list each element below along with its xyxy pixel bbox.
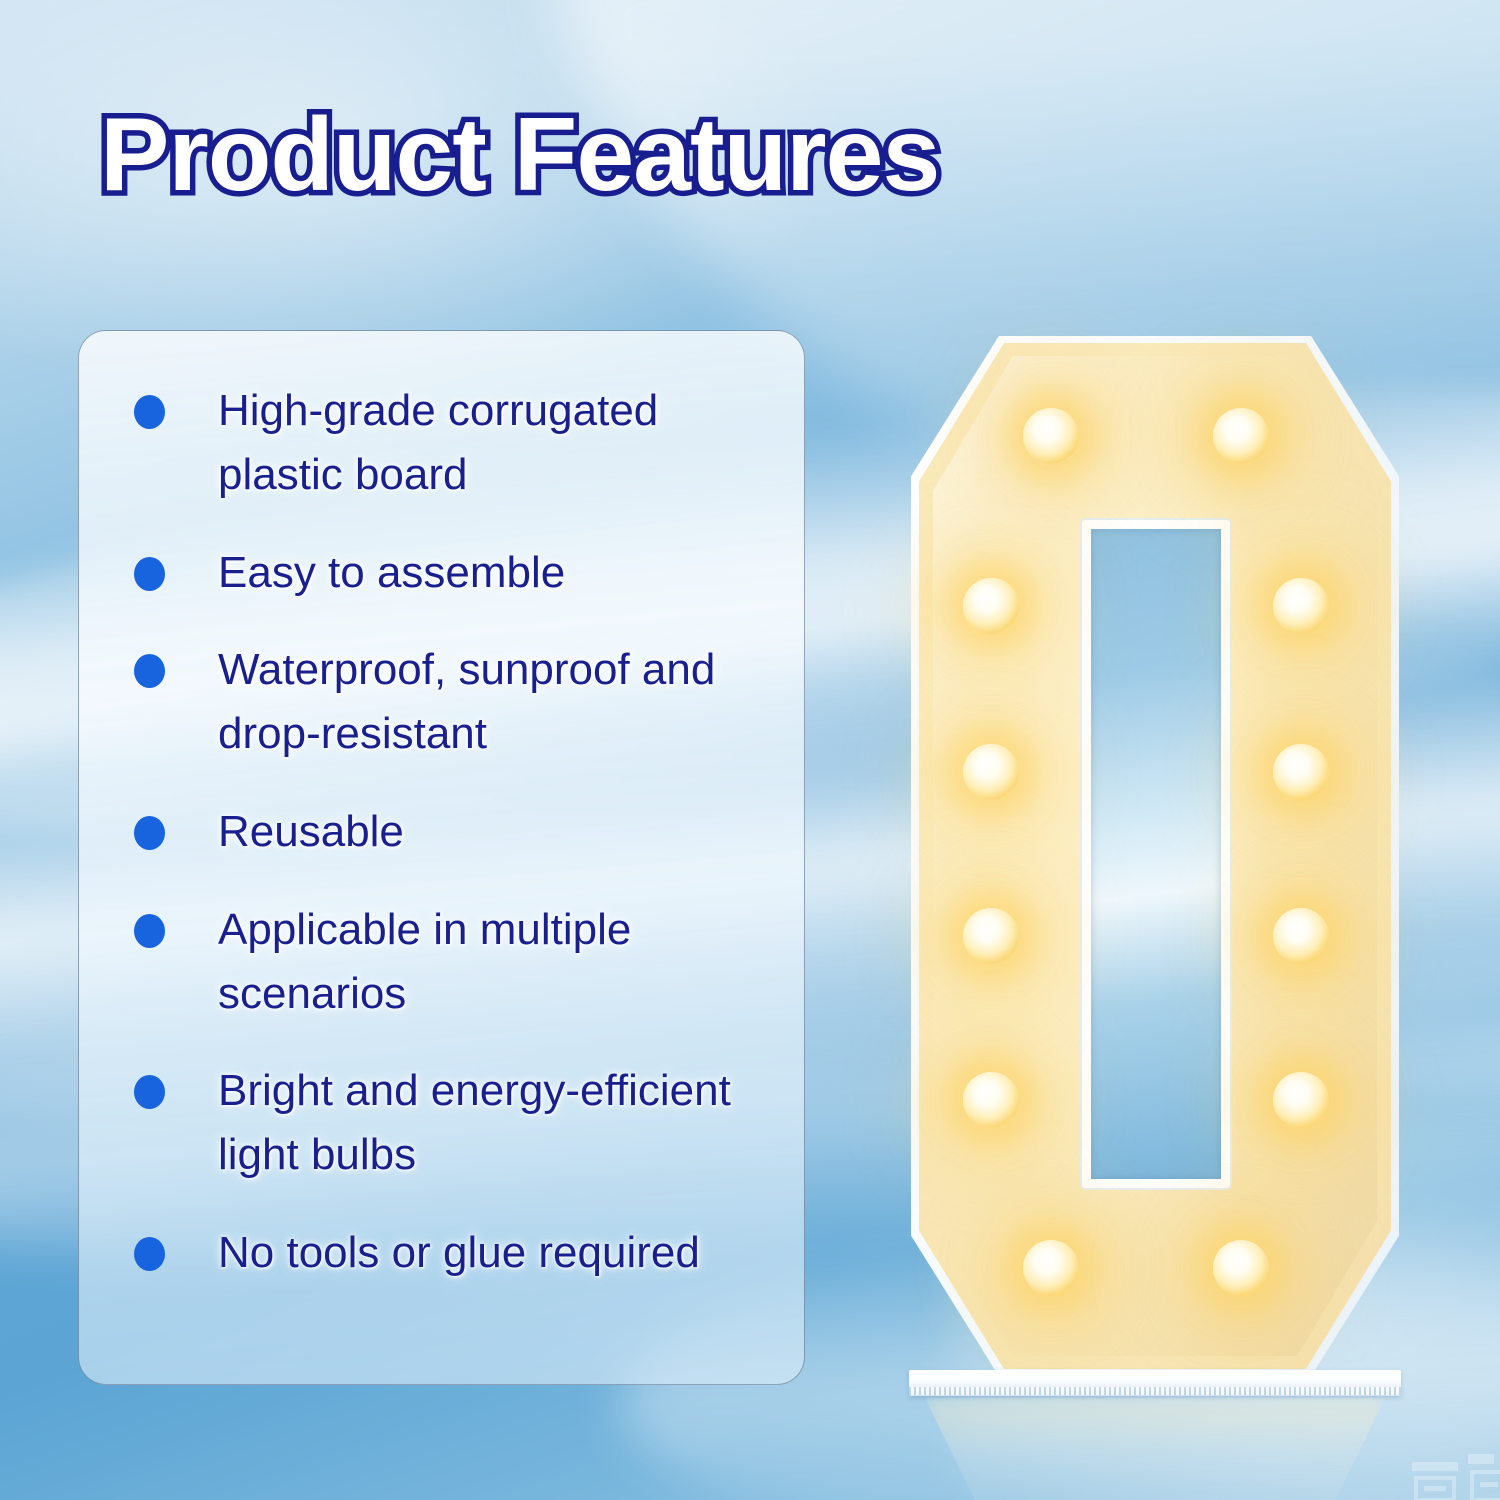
- page-title: Product Features: [100, 96, 939, 215]
- bullet-dot-icon: [134, 816, 165, 850]
- list-item: Easy to assemble: [134, 541, 784, 605]
- feature-list: High-grade corrugated plastic board Easy…: [79, 331, 804, 1384]
- bullet-dot-icon: [134, 1075, 165, 1109]
- light-bulb-icon: [1273, 744, 1329, 800]
- light-bulb-icon: [963, 1072, 1019, 1128]
- letter-counter-cutout: [1082, 520, 1230, 1188]
- light-bulb-icon: [963, 744, 1019, 800]
- list-item: Reusable: [134, 800, 784, 864]
- light-bulb-icon: [1023, 1240, 1079, 1296]
- feature-text: Waterproof, sunproof and drop-resistant: [218, 638, 738, 766]
- light-bulb-icon: [1213, 408, 1269, 464]
- list-item: Bright and energy-efficient light bulbs: [134, 1059, 784, 1187]
- watermark-logo-icon: [1406, 1432, 1500, 1500]
- product-marquee-letter: [905, 330, 1405, 1420]
- feature-text: Easy to assemble: [218, 541, 565, 605]
- feature-text: Applicable in multiple scenarios: [218, 898, 738, 1026]
- list-item: High-grade corrugated plastic board: [134, 379, 784, 507]
- feature-text: Reusable: [218, 800, 404, 864]
- base-corrugation: [909, 1387, 1401, 1395]
- feature-text: No tools or glue required: [218, 1221, 700, 1285]
- light-bulb-icon: [1273, 908, 1329, 964]
- light-bulb-icon: [1273, 578, 1329, 634]
- light-bulb-icon: [963, 578, 1019, 634]
- infographic-canvas: Product Features High-grade corrugated p…: [0, 0, 1500, 1500]
- list-item: Waterproof, sunproof and drop-resistant: [134, 638, 784, 766]
- light-bulb-icon: [1273, 1072, 1329, 1128]
- list-item: No tools or glue required: [134, 1221, 784, 1285]
- bullet-dot-icon: [134, 914, 165, 948]
- light-bulb-icon: [1213, 1240, 1269, 1296]
- feature-text: Bright and energy-efficient light bulbs: [218, 1059, 738, 1187]
- light-bulb-icon: [963, 908, 1019, 964]
- bullet-dot-icon: [134, 654, 165, 688]
- list-item: Applicable in multiple scenarios: [134, 898, 784, 1026]
- bullet-dot-icon: [134, 1237, 165, 1271]
- light-bulb-icon: [1023, 408, 1079, 464]
- letter-reflection: [925, 1398, 1385, 1500]
- feature-card-panel: High-grade corrugated plastic board Easy…: [78, 330, 805, 1385]
- feature-text: High-grade corrugated plastic board: [218, 379, 738, 507]
- bullet-dot-icon: [134, 395, 165, 429]
- bullet-dot-icon: [134, 557, 165, 591]
